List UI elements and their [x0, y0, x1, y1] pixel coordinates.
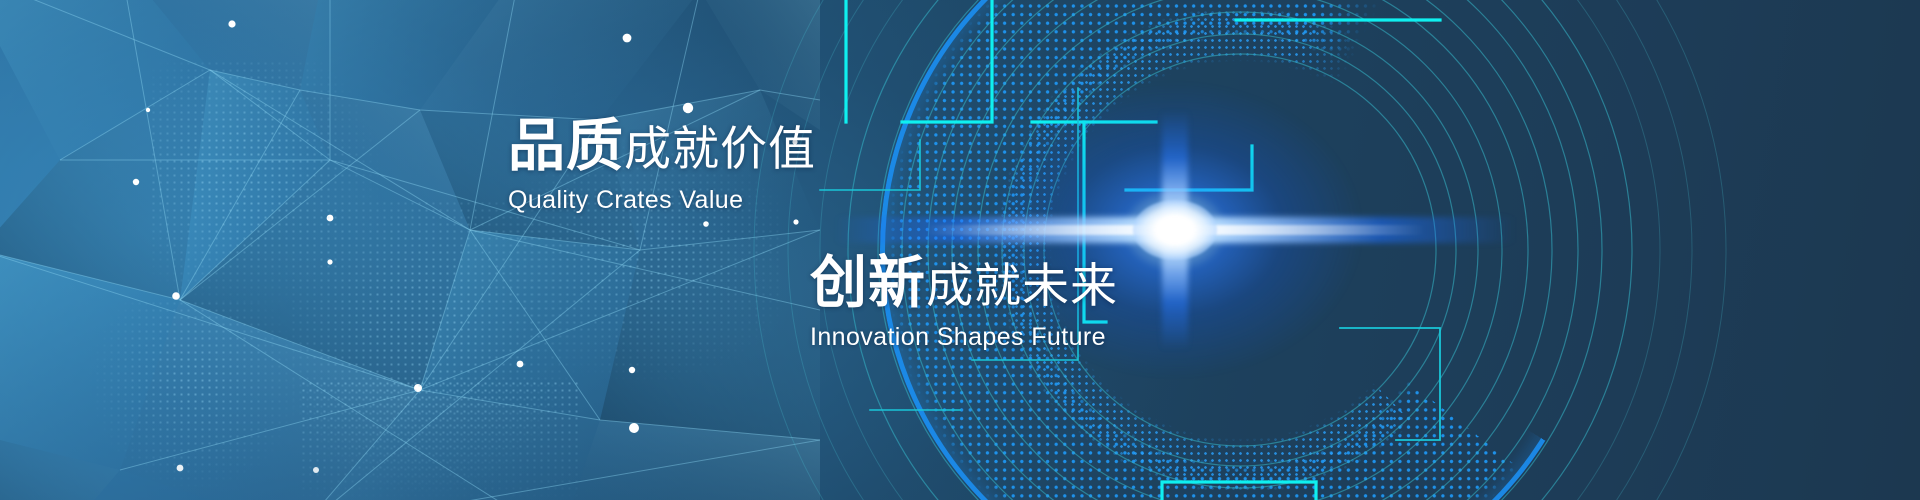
hero-banner: 品质成就价值 Quality Crates Value 创新成就未来 Innov… [0, 0, 1920, 500]
slogan-headline-lead: 品质 [508, 114, 624, 178]
halftone-dots-patch [80, 300, 310, 500]
slogan-headline-cn: 品质成就价值 [508, 118, 816, 175]
slogan-block-innovation: 创新成就未来 Innovation Shapes Future [810, 255, 1118, 352]
slogan-subtitle-en: Quality Crates Value [508, 186, 816, 215]
slogan-block-quality: 品质成就价值 Quality Crates Value [508, 118, 816, 215]
slogan-subtitle-en: Innovation Shapes Future [810, 323, 1118, 352]
halftone-dots-patch [300, 380, 580, 500]
slogan-headline-cn: 创新成就未来 [810, 255, 1118, 312]
slogan-headline-rest: 成就价值 [624, 122, 816, 175]
slogan-headline-rest: 成就未来 [926, 259, 1118, 312]
flare-core [1133, 200, 1217, 260]
slogan-headline-lead: 创新 [810, 251, 926, 315]
